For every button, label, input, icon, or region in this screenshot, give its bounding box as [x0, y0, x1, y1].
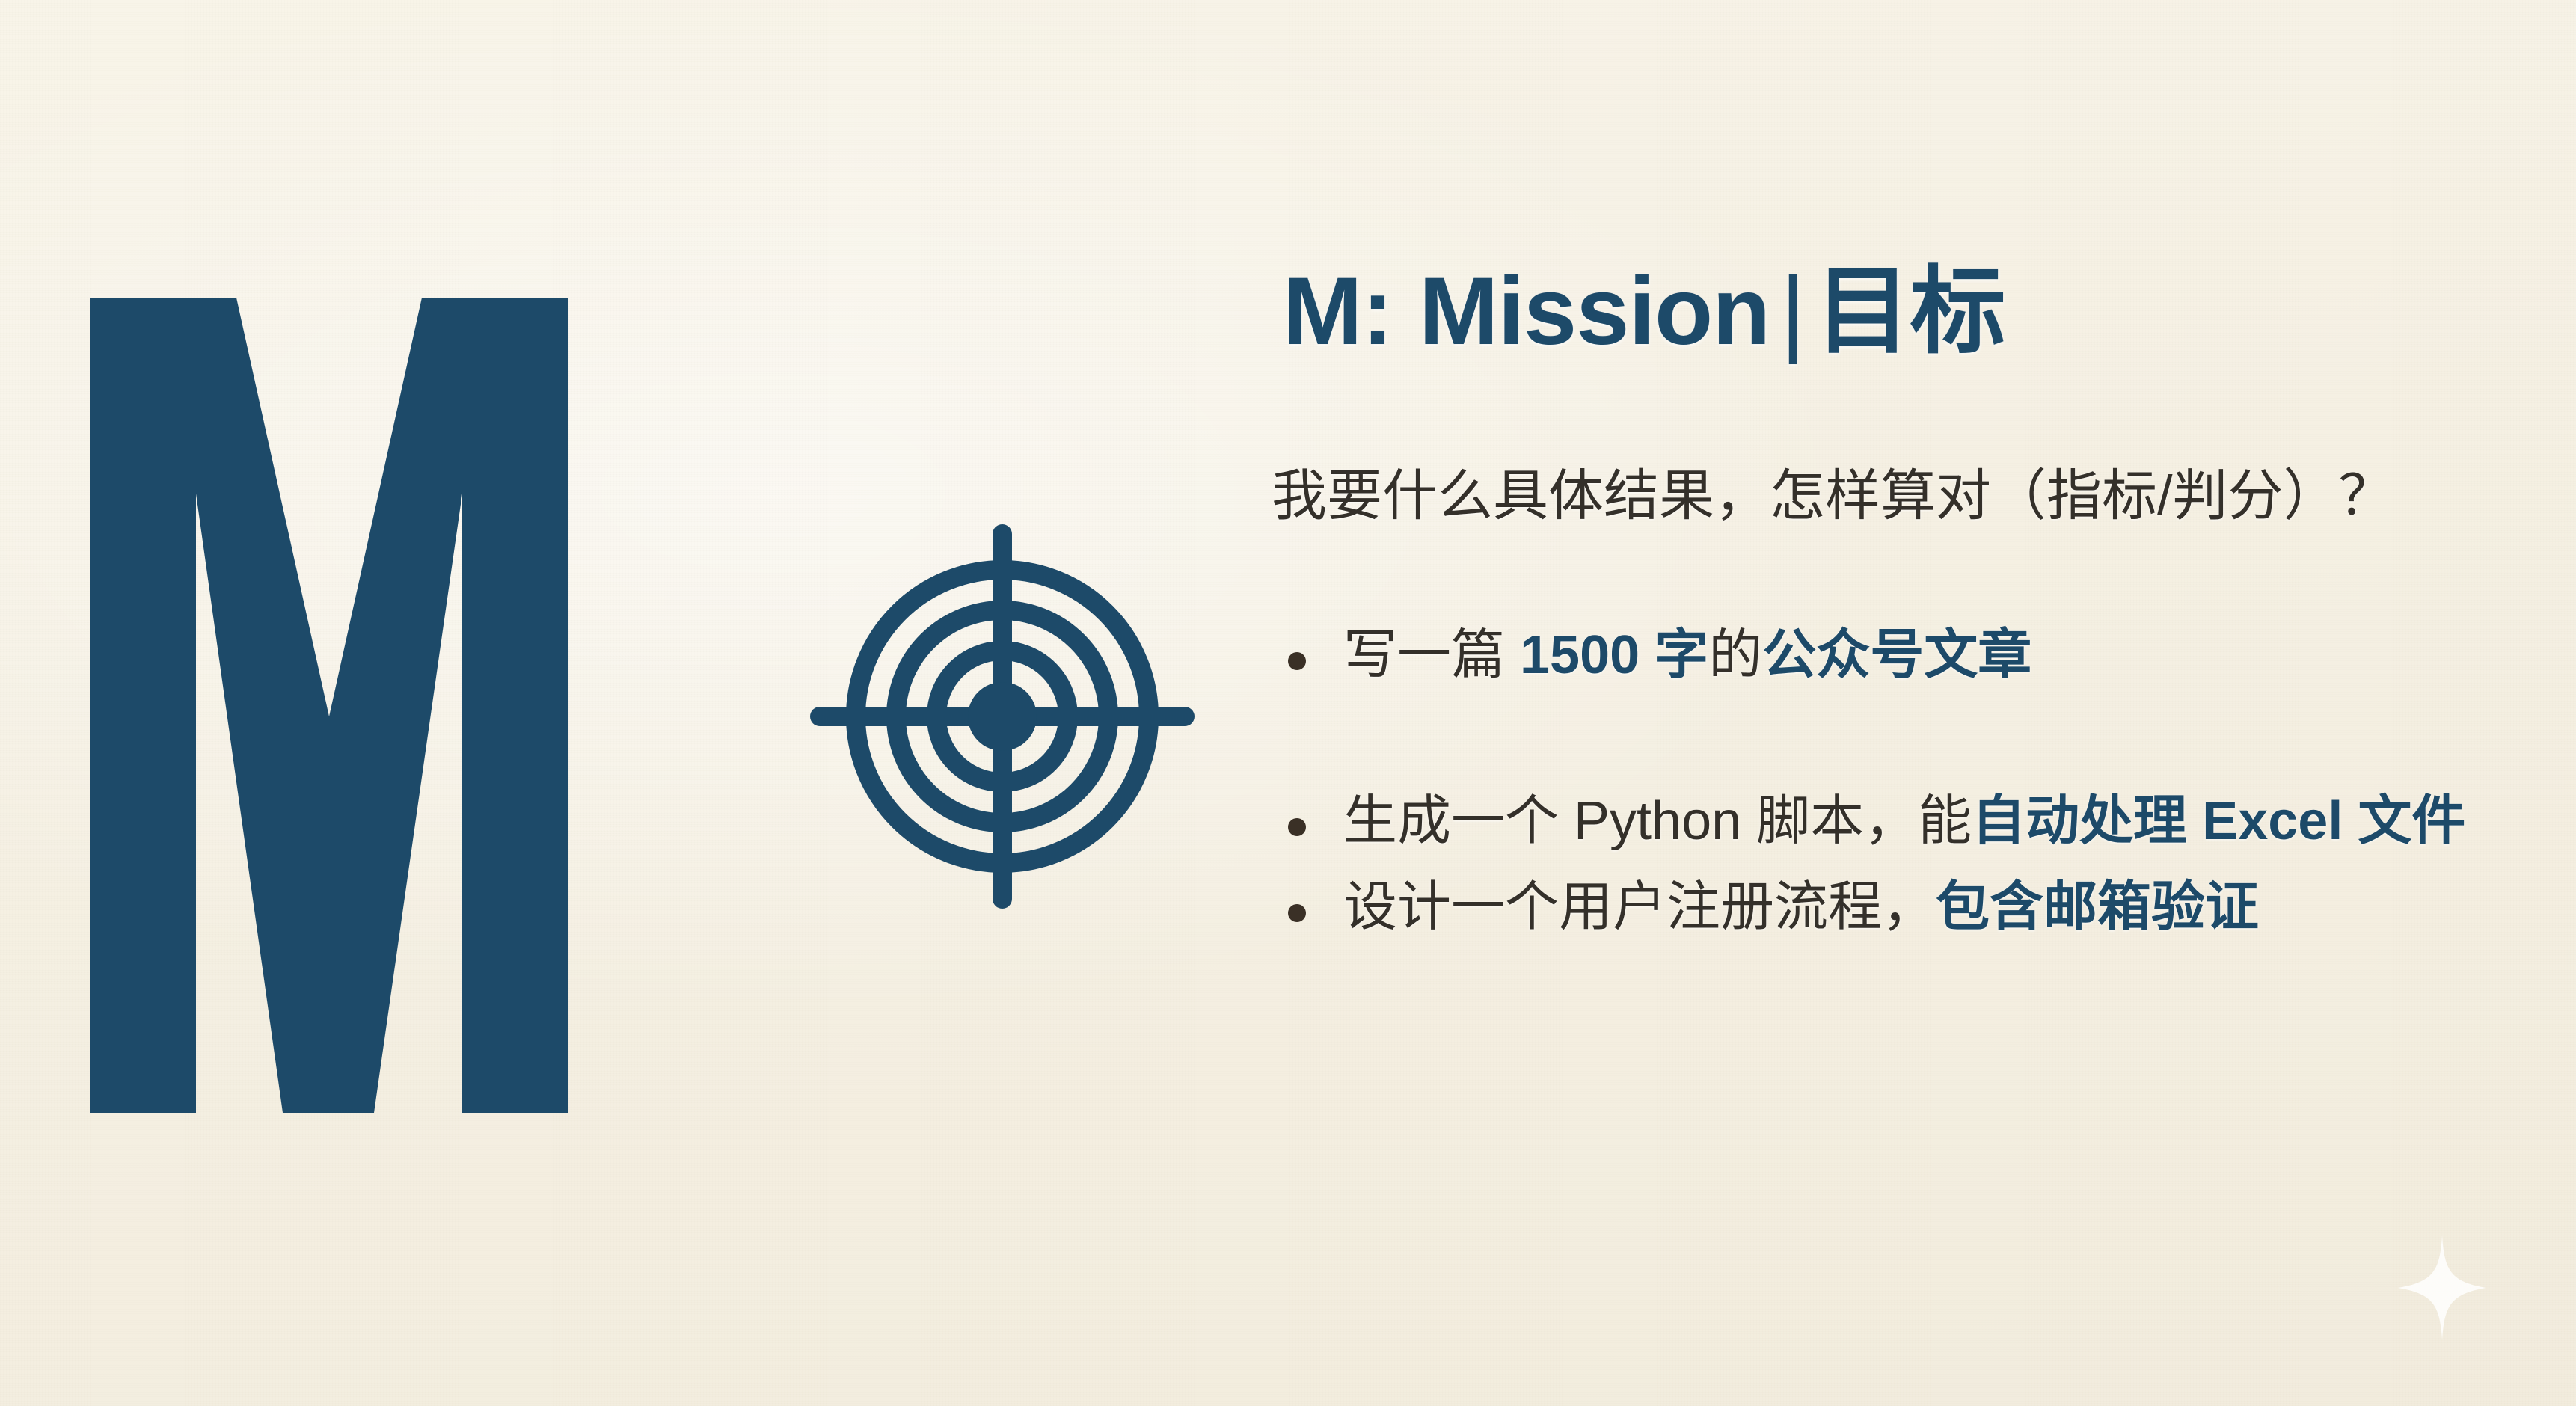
page-title: M: Mission|目标: [1283, 260, 2005, 363]
bullet-dot-icon: [1288, 652, 1306, 670]
segment-plain: 的: [1708, 625, 1762, 685]
bullet-dot-icon: [1288, 818, 1306, 836]
list-item: 写一篇 1500 字的公众号文章: [1272, 621, 2513, 691]
list-item: 设计一个用户注册流程，包含邮箱验证: [1272, 873, 2513, 943]
bullet-list: 写一篇 1500 字的公众号文章 生成一个 Python 脚本，能自动处理 Ex…: [1272, 621, 2513, 943]
segment-emphasis: 自动处理 Excel 文件: [1972, 791, 2465, 851]
letter-m-glyph: [90, 298, 568, 1113]
segment-plain: 生成一个 Python 脚本，能: [1343, 791, 1972, 851]
segment-plain: 写一篇: [1343, 625, 1520, 685]
sparkle-star-icon: [2398, 1235, 2486, 1340]
segment-emphasis: 公众号文章: [1762, 625, 2031, 685]
segment-emphasis: 1500 字: [1520, 625, 1708, 685]
page-subtitle: 我要什么具体结果，怎样算对（指标/判分）？: [1272, 462, 2394, 529]
list-item: 生成一个 Python 脚本，能自动处理 Excel 文件: [1272, 787, 2513, 857]
list-item-text: 设计一个用户注册流程，包含邮箱验证: [1343, 877, 2259, 937]
target-crosshair-icon: [809, 524, 1195, 909]
headline-separator: |: [1770, 258, 1815, 365]
slide-canvas: M: Mission|目标 我要什么具体结果，怎样算对（指标/判分）？ 写一篇 …: [0, 0, 2576, 1406]
right-content-panel: M: Mission|目标 我要什么具体结果，怎样算对（指标/判分）？ 写一篇 …: [1272, 0, 2543, 1406]
segment-plain: 设计一个用户注册流程，: [1343, 877, 1936, 937]
headline-prefix: M: Mission: [1283, 258, 1770, 365]
list-item-text: 写一篇 1500 字的公众号文章: [1343, 625, 2031, 685]
list-item-text: 生成一个 Python 脚本，能自动处理 Excel 文件: [1343, 787, 2506, 857]
left-visual-panel: [0, 0, 1242, 1406]
headline-chinese: 目标: [1815, 258, 2005, 365]
bullet-dot-icon: [1288, 904, 1306, 922]
segment-emphasis: 包含邮箱验证: [1936, 877, 2259, 937]
